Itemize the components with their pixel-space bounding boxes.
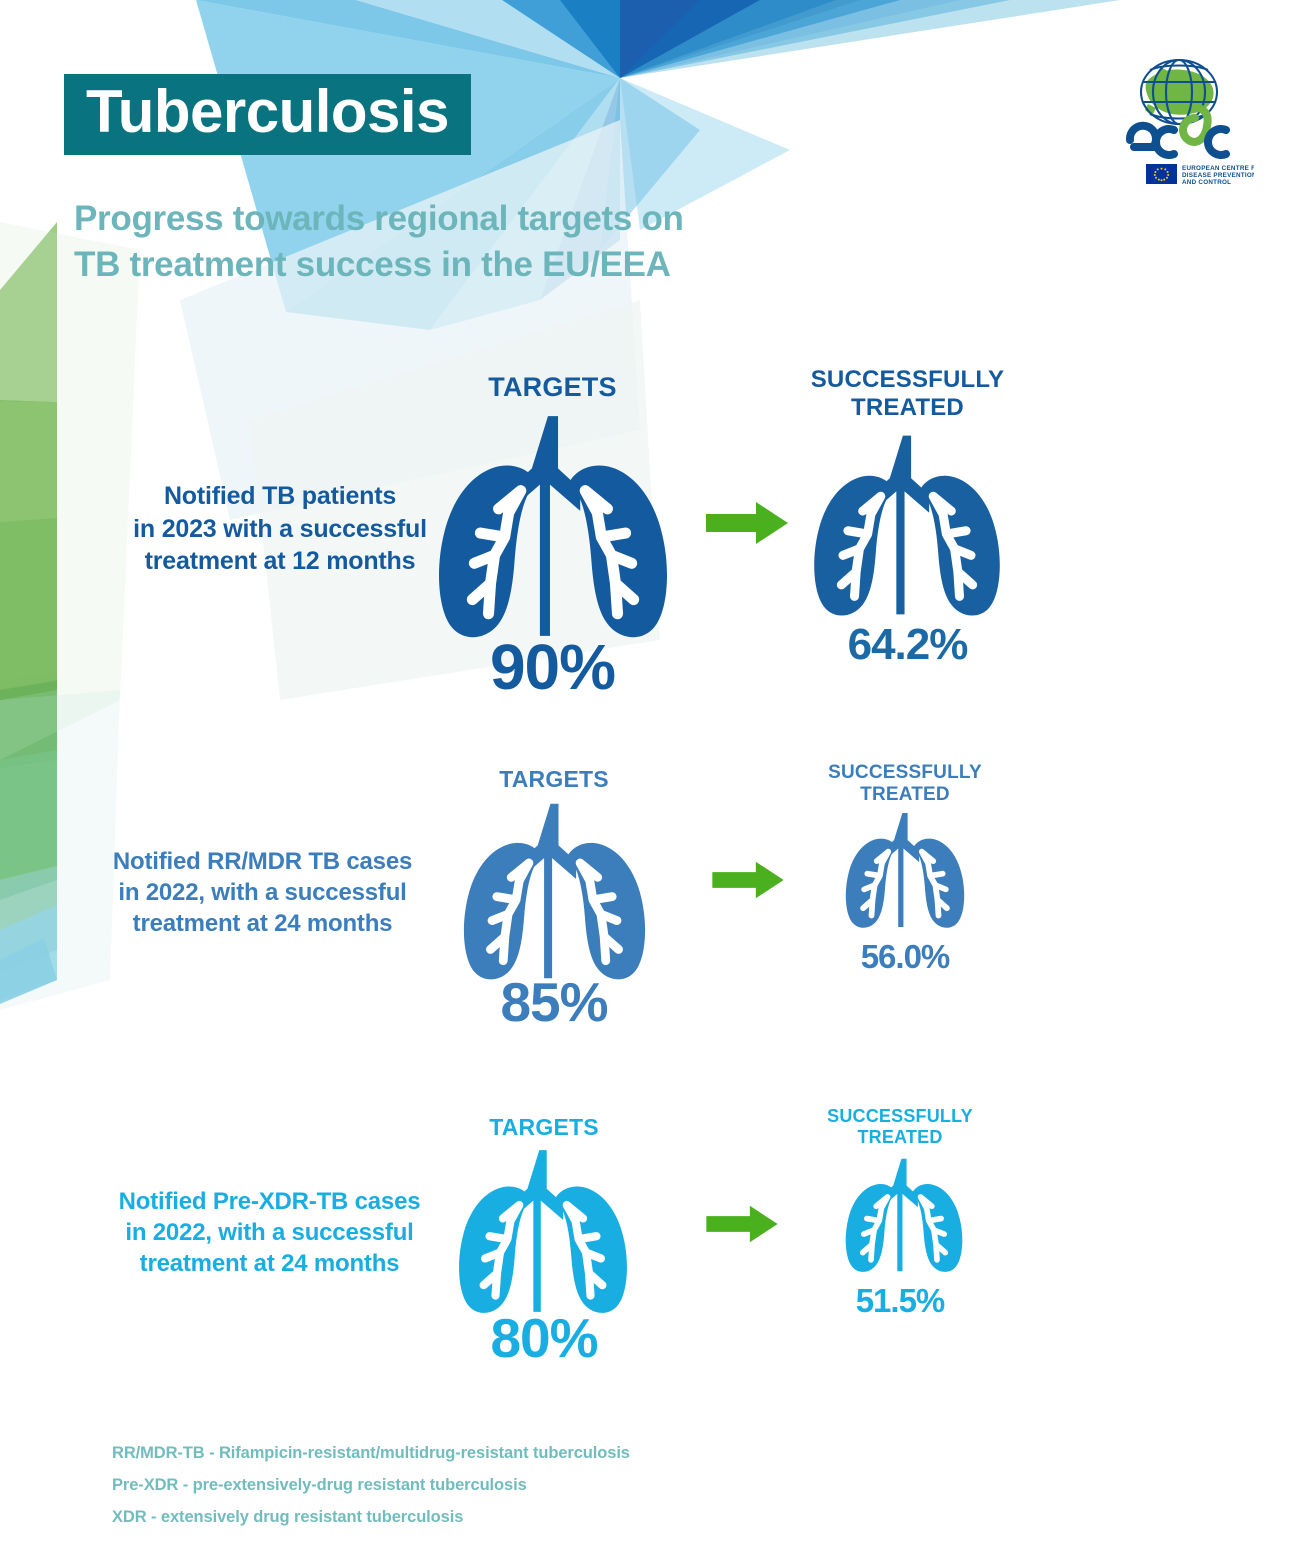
achieved-value: 64.2% [800, 620, 1015, 670]
successfully-treated-label: SUCCESSFULLY TREATED [805, 762, 1005, 806]
target-value: 80% [430, 1306, 658, 1370]
treated-label-line-2: TREATED [805, 784, 1005, 806]
subtitle-line-1: Progress towards regional targets on [74, 196, 684, 242]
row-desc-line-3: treatment at 24 months [80, 908, 445, 939]
svg-text:EUROPEAN CENTRE FOR: EUROPEAN CENTRE FOR [1182, 165, 1254, 172]
target-value: 85% [440, 970, 668, 1034]
infographic-canvas: Tuberculosis Progress towards regional t… [0, 0, 1296, 1546]
treated-label-line-1: SUCCESSFULLY [800, 366, 1015, 394]
footnote-prexdr: Pre-XDR - pre-extensively-drug resistant… [112, 1469, 630, 1501]
footnote-xdr: XDR - extensively drug resistant tubercu… [112, 1501, 630, 1533]
treated-label-line-1: SUCCESSFULLY [800, 1106, 1000, 1127]
row-description: Notified TB patients in 2023 with a succ… [120, 480, 440, 578]
page-title: Tuberculosis [86, 80, 449, 143]
lungs-icon-target [448, 1146, 638, 1316]
row-desc-line-1: Notified TB patients [120, 480, 440, 513]
targets-label: TARGETS [430, 372, 675, 403]
row-description: Notified Pre-XDR-TB cases in 2022, with … [92, 1186, 447, 1280]
eu-flag-icon [1146, 164, 1177, 184]
row-desc-line-2: in 2022, with a successful [80, 877, 445, 908]
lungs-icon-achieved [838, 810, 972, 930]
ecdc-wordmark [1130, 108, 1226, 155]
lungs-icon-achieved [802, 432, 1012, 618]
svg-text:AND CONTROL: AND CONTROL [1182, 179, 1231, 186]
row-desc-line-3: treatment at 12 months [120, 545, 440, 578]
row-desc-line-2: in 2022, with a successful [92, 1217, 447, 1248]
targets-label: TARGETS [430, 1114, 658, 1140]
page-subtitle: Progress towards regional targets on TB … [74, 196, 684, 287]
progress-arrow-icon [712, 860, 784, 900]
metric-row-rrmdr-24-months: Notified RR/MDR TB cases in 2022, with a… [0, 748, 1100, 1048]
footnote-rrmdr: RR/MDR-TB - Rifampicin-resistant/multidr… [112, 1437, 630, 1469]
metric-row-tb-12-months: Notified TB patients in 2023 with a succ… [0, 352, 1100, 712]
lungs-icon-achieved [838, 1156, 970, 1274]
progress-arrow-icon [706, 500, 788, 546]
page-title-banner: Tuberculosis [64, 74, 471, 155]
row-desc-line-1: Notified Pre-XDR-TB cases [92, 1186, 447, 1217]
achieved-value: 51.5% [800, 1282, 1000, 1320]
treated-label-line-1: SUCCESSFULLY [805, 762, 1005, 784]
treated-label-line-2: TREATED [800, 394, 1015, 422]
row-desc-line-2: in 2023 with a successful [120, 513, 440, 546]
lungs-icon-target [424, 412, 682, 640]
metric-row-prexdr-24-months: Notified Pre-XDR-TB cases in 2022, with … [0, 1094, 1100, 1394]
ecdc-tagline: EUROPEAN CENTRE FOR DISEASE PREVENTION A… [1182, 165, 1254, 186]
target-value: 90% [430, 630, 675, 704]
subtitle-line-2: TB treatment success in the EU/EEA [74, 242, 684, 288]
row-description: Notified RR/MDR TB cases in 2022, with a… [80, 846, 445, 940]
achieved-value: 56.0% [805, 938, 1005, 976]
row-desc-line-1: Notified RR/MDR TB cases [80, 846, 445, 877]
progress-arrow-icon [706, 1204, 778, 1244]
treated-label-line-2: TREATED [800, 1127, 1000, 1148]
successfully-treated-label: SUCCESSFULLY TREATED [800, 1106, 1000, 1147]
footnotes-list: RR/MDR-TB - Rifampicin-resistant/multidr… [112, 1437, 630, 1534]
row-desc-line-3: treatment at 24 months [92, 1248, 447, 1279]
ecdc-logo: EUROPEAN CENTRE FOR DISEASE PREVENTION A… [1104, 46, 1254, 186]
lungs-icon-target [452, 800, 657, 982]
successfully-treated-label: SUCCESSFULLY TREATED [800, 366, 1015, 421]
targets-label: TARGETS [440, 766, 668, 792]
svg-text:DISEASE PREVENTION: DISEASE PREVENTION [1182, 172, 1254, 179]
